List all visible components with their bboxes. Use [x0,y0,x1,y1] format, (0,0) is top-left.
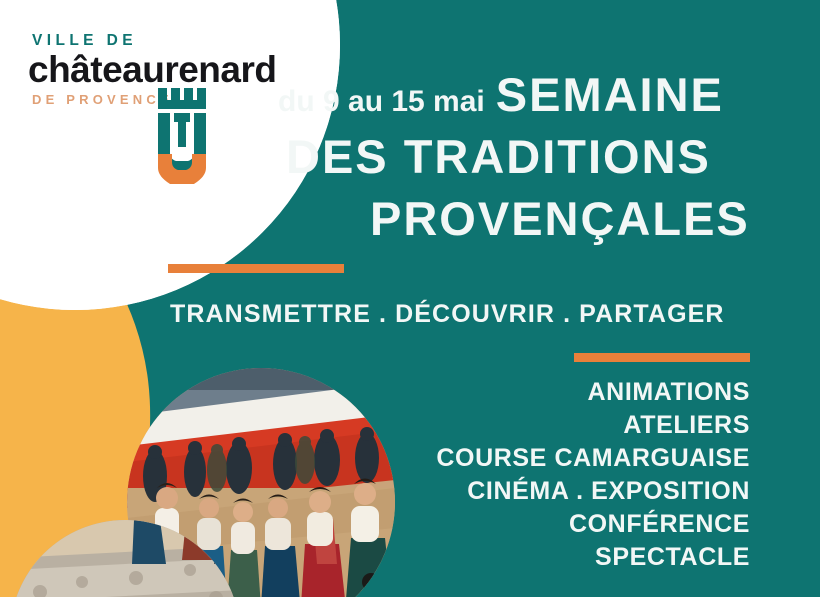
orange-divider-top [168,264,344,273]
headline-line-2: DES TRADITIONS [278,126,778,187]
logo-ville-text: VILLE DE [28,32,278,50]
logo-provence-text: DE PROVENCE [28,92,278,107]
logo-city-name: châteaurenard [28,51,278,89]
activities-list: ANIMATIONS ATELIERS COURSE CAMARGUAISE C… [436,376,750,574]
city-logo: VILLE DE châteaurenard DE PROVENCE [28,32,278,107]
headline-line-3: PROVENÇALES [278,188,778,249]
list-item: ANIMATIONS [436,376,750,409]
tagline: TRANSMETTRE . DÉCOUVRIR . PARTAGER [170,300,725,329]
list-item: CONFÉRENCE [436,508,750,541]
list-item: ATELIERS [436,409,750,442]
castle-crest-icon [154,84,214,184]
list-item: CINÉMA . EXPOSITION [436,475,750,508]
poster-canvas: VILLE DE châteaurenard DE PROVENCE du 9 [0,0,820,597]
headline-line-1: du 9 au 15 mai SEMAINE [278,64,778,125]
orange-divider-bottom [574,353,750,362]
list-item: COURSE CAMARGUAISE [436,442,750,475]
event-date: du 9 au 15 mai [278,85,485,119]
list-item: SPECTACLE [436,541,750,574]
headline-word-semaine: SEMAINE [496,64,724,125]
headline-block: du 9 au 15 mai SEMAINE DES TRADITIONS PR… [278,64,778,249]
